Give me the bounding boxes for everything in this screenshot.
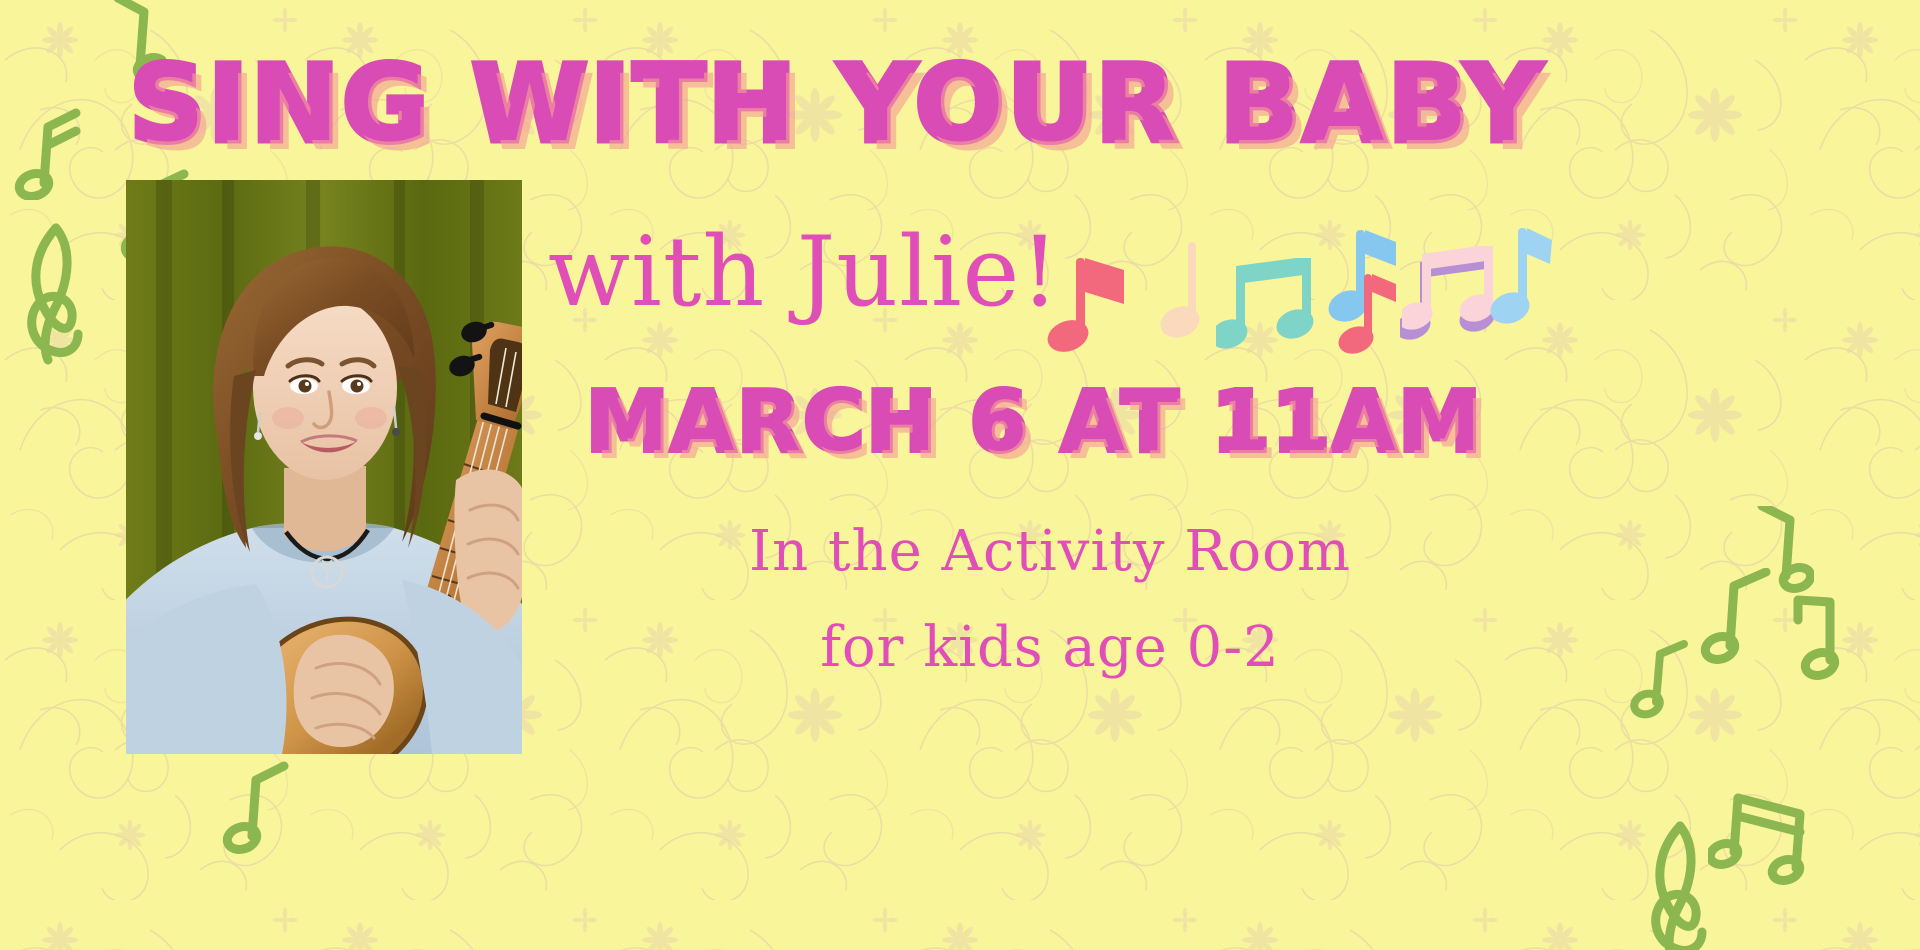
treble-clef-green-icon [1632,820,1724,950]
page-title: SING WITH YOUR BABY [130,52,1500,156]
event-location-line: In the Activity Room [600,524,1500,580]
beamed-notes-teal-icon [1216,258,1334,354]
event-audience-line: for kids age 0-2 [600,620,1500,676]
eighth-note-blue-icon [1324,226,1404,330]
eighth-note-skyblue-icon [1484,224,1556,332]
presenter-photo [126,180,522,754]
colorful-notes-decoration [1040,224,1540,354]
eighth-note-green-icon [1700,568,1772,664]
event-date-line: MARCH 6 AT 11AM [560,382,1510,464]
eighth-note-green-icon [14,105,84,200]
presenter-line: with Julie! [548,224,1060,320]
eighth-note-peach-icon [1148,238,1220,343]
beamed-eighth-notes-green-icon [1708,788,1818,893]
eighth-note-pink-icon [1330,270,1402,364]
eighth-note-green-icon [222,760,292,855]
beamed-notes-blush-icon [1402,246,1518,338]
poster-canvas: SING WITH YOUR BABY with Julie! [0,0,1920,950]
eighth-note-green-icon [1744,506,1814,598]
quarter-note-green-icon [1778,586,1844,682]
eighth-note-green-icon [1630,640,1692,720]
beamed-notes-purple-icon [1400,256,1518,348]
treble-clef-green-icon [8,220,100,370]
